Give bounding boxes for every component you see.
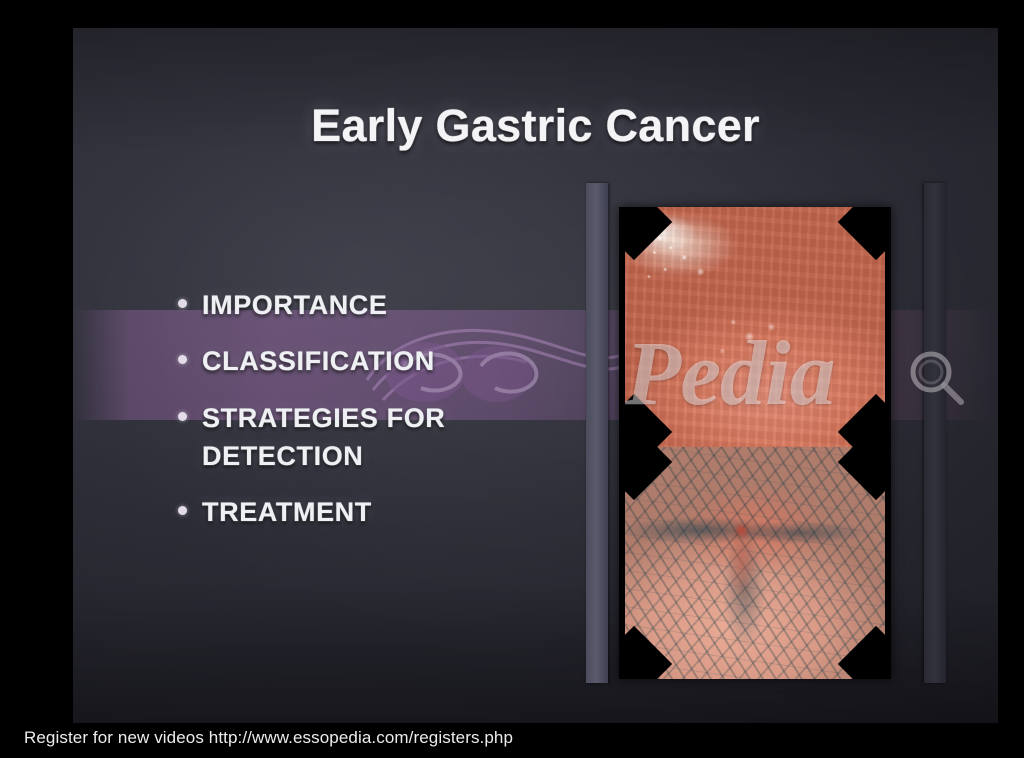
chromoendoscopy-depressed-lesion: [619, 447, 891, 679]
bullet-list: IMPORTANCE CLASSIFICATION STRATEGIES FOR…: [178, 286, 538, 550]
bullet-label: STRATEGIES FOR DETECTION: [202, 399, 445, 476]
endoscopy-photo-stack: [619, 207, 891, 679]
frame-edge-mask: [885, 207, 891, 447]
registration-link-text[interactable]: Register for new videos http://www.essop…: [24, 728, 513, 748]
list-item: STRATEGIES FOR DETECTION: [178, 399, 538, 476]
bullet-dot-icon: [178, 506, 187, 515]
list-item: TREATMENT: [178, 493, 538, 531]
endoscopy-specular-highlights: [619, 207, 891, 447]
presentation-slide: Early Gastric Cancer: [73, 28, 998, 723]
endoscopy-image-chromoendoscopy: [619, 447, 891, 679]
bullet-dot-icon: [178, 355, 187, 364]
film-rail-left: [586, 183, 608, 683]
endoscopy-image-column: [586, 183, 946, 683]
film-rail-right: [924, 183, 946, 683]
bullet-dot-icon: [178, 299, 187, 308]
footer-bar: Register for new videos http://www.essop…: [0, 723, 1024, 758]
bullet-label: CLASSIFICATION: [202, 342, 435, 380]
list-item: CLASSIFICATION: [178, 342, 538, 380]
video-player-viewport: Early Gastric Cancer: [0, 0, 1024, 758]
frame-edge-mask: [619, 447, 625, 679]
bullet-label: TREATMENT: [202, 493, 372, 531]
frame-edge-mask: [619, 207, 625, 447]
bullet-label: IMPORTANCE: [202, 286, 388, 324]
list-item: IMPORTANCE: [178, 286, 538, 324]
endoscopy-image-normal-mucosa: [619, 207, 891, 447]
frame-edge-mask: [885, 447, 891, 679]
page-title: Early Gastric Cancer: [73, 100, 998, 152]
bullet-dot-icon: [178, 412, 187, 421]
